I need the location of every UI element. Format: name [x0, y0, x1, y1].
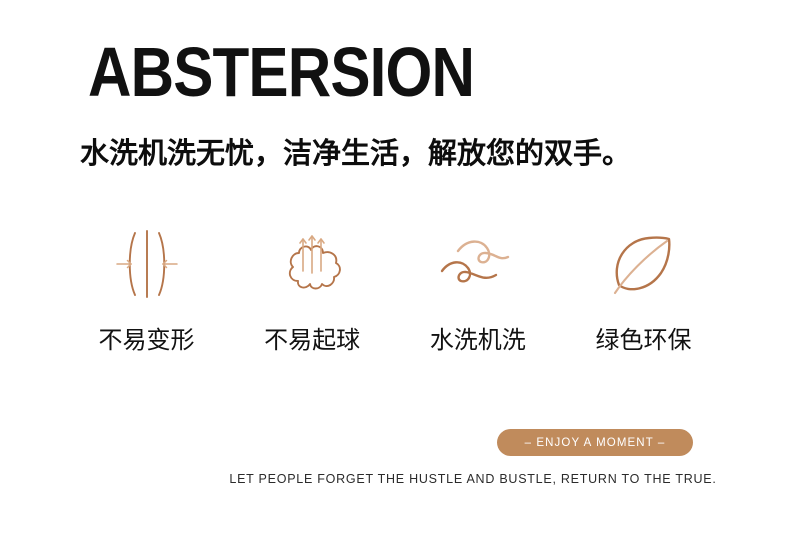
feature-item-anti-pilling: 不易起球 — [230, 224, 395, 354]
fabric-stretch-icon — [103, 224, 191, 304]
feature-list: 不易变形 不易起球 — [64, 224, 726, 354]
subtitle: 水洗机洗无忧，洁净生活，解放您的双手。 — [80, 133, 631, 173]
feature-label: 不易起球 — [264, 326, 360, 354]
feature-label: 水洗机洗 — [430, 326, 526, 354]
leaf-icon — [599, 224, 687, 304]
feature-item-eco-friendly: 绿色环保 — [561, 224, 726, 354]
pill-label: – ENJOY A MOMENT – — [525, 437, 666, 449]
feature-item-anti-deform: 不易变形 — [64, 224, 229, 354]
water-wave-icon — [434, 224, 522, 304]
enjoy-a-moment-button[interactable]: – ENJOY A MOMENT – — [497, 429, 693, 456]
tagline: LET PEOPLE FORGET THE HUSTLE AND BUSTLE,… — [0, 472, 790, 486]
feature-label: 不易变形 — [99, 326, 195, 354]
feature-item-washable: 水洗机洗 — [395, 224, 560, 354]
lint-cloud-icon — [268, 224, 356, 304]
feature-label: 绿色环保 — [595, 326, 691, 354]
page-title: ABSTERSION — [88, 36, 474, 108]
promo-banner: ABSTERSION 水洗机洗无忧，洁净生活，解放您的双手。 不易变形 — [0, 0, 790, 551]
